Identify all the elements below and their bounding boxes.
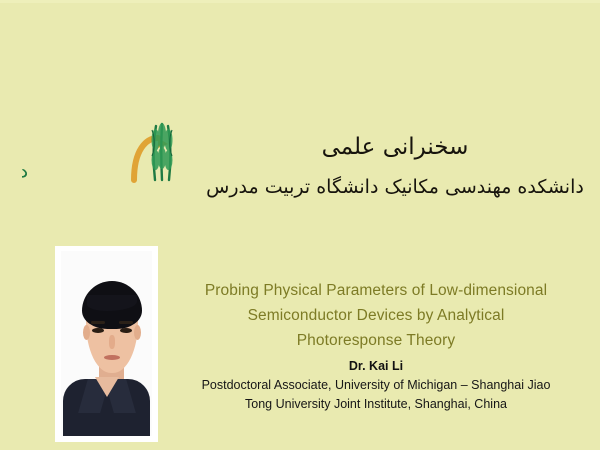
talk-title: Probing Physical Parameters of Low-dimen… bbox=[176, 278, 576, 353]
seminar-announcement-poster: دانشگاه تربیت مدرس سخنرانی علمی دانشکده … bbox=[0, 0, 600, 450]
portrait-ear-right bbox=[134, 325, 141, 340]
speaker-affiliation-line: Postdoctoral Associate, University of Mi… bbox=[176, 376, 576, 395]
persian-heading-block: سخنرانی علمی دانشکده مهندسی مکانیک دانشگ… bbox=[200, 132, 590, 200]
talk-title-line: Photoresponse Theory bbox=[176, 328, 576, 353]
talk-details-block: Probing Physical Parameters of Low-dimen… bbox=[176, 278, 576, 420]
speaker-affiliation-line: Tong University Joint Institute, Shangha… bbox=[176, 395, 576, 414]
speaker-photo-frame bbox=[55, 246, 158, 442]
portrait-eye-right bbox=[120, 328, 132, 333]
portrait-eye-left bbox=[92, 328, 104, 333]
clipped-next-line bbox=[176, 416, 576, 420]
portrait-mouth bbox=[104, 355, 120, 360]
talk-title-line: Probing Physical Parameters of Low-dimen… bbox=[176, 278, 576, 303]
portrait-eyebrow-right bbox=[119, 321, 133, 324]
speaker-portrait bbox=[61, 251, 152, 436]
top-edge-band bbox=[0, 0, 600, 3]
portrait-ear-left bbox=[83, 325, 90, 340]
logo-calligraphy-text: دانشگاه تربیت مدرس bbox=[22, 158, 30, 190]
tarbiat-modares-university-logo: دانشگاه تربیت مدرس bbox=[22, 118, 192, 190]
portrait-eyebrow-left bbox=[91, 321, 105, 324]
persian-subtitle: دانشکده مهندسی مکانیک دانشگاه تربیت مدرس bbox=[200, 174, 590, 200]
portrait-nose bbox=[109, 335, 115, 349]
persian-title: سخنرانی علمی bbox=[200, 132, 590, 162]
talk-title-line: Semiconductor Devices by Analytical bbox=[176, 303, 576, 328]
speaker-name: Dr. Kai Li bbox=[176, 358, 576, 374]
speaker-affiliation: Postdoctoral Associate, University of Mi… bbox=[176, 376, 576, 414]
